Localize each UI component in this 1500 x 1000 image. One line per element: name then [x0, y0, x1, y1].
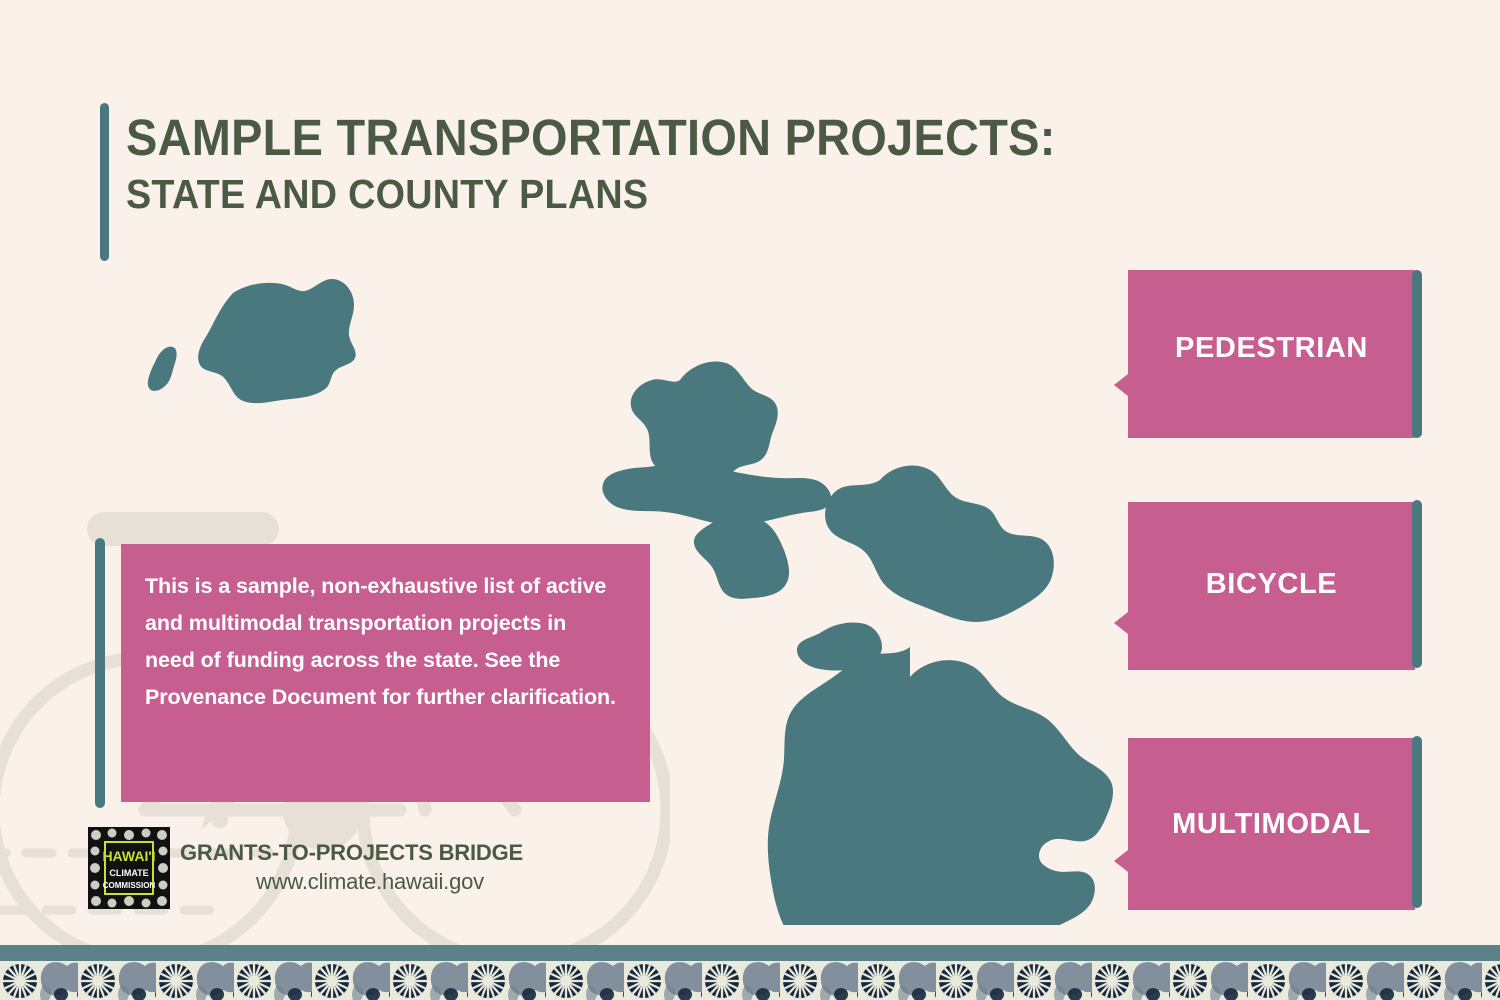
category-accent-bar-pedestrian — [1412, 270, 1422, 438]
category-accent-bar-multimodal — [1412, 736, 1422, 908]
slide-canvas: SAMPLE TRANSPORTATION PROJECTS: STATE AN… — [0, 0, 1500, 1000]
logo-line-1: HAWAI'I — [102, 848, 155, 864]
island-maui — [825, 465, 1054, 622]
quilt-pattern-svg — [0, 961, 1500, 1000]
callout-tail-icon — [1114, 612, 1128, 634]
category-box-pedestrian[interactable]: PEDESTRIAN — [1128, 270, 1415, 438]
category-box-bicycle[interactable]: BICYCLE — [1128, 502, 1415, 670]
page-title-line-1: SAMPLE TRANSPORTATION PROJECTS: — [126, 112, 1156, 164]
island-kahoolawe — [797, 622, 882, 670]
page-title-line-2: STATE AND COUNTY PLANS — [126, 174, 1156, 216]
title-accent-bar — [100, 103, 109, 261]
quilt-pattern-band — [0, 961, 1500, 1000]
category-label-pedestrian: PEDESTRIAN — [1128, 332, 1415, 365]
page-title: SAMPLE TRANSPORTATION PROJECTS: STATE AN… — [126, 112, 1246, 216]
info-box-accent-bar — [95, 538, 105, 808]
footer-url[interactable]: www.climate.hawaii.gov — [180, 869, 560, 895]
island-molokai — [602, 464, 831, 525]
island-lanai — [694, 516, 789, 599]
category-label-multimodal: MULTIMODAL — [1128, 808, 1415, 841]
category-accent-bar-bicycle — [1412, 500, 1422, 668]
logo-line-3: COMMISSION — [103, 881, 156, 890]
island-niihau — [148, 347, 177, 391]
callout-tail-icon — [1114, 374, 1128, 396]
logo-line-2: CLIMATE — [109, 868, 148, 878]
hawaii-climate-commission-logo: HAWAI'I CLIMATE COMMISSION — [88, 827, 170, 909]
island-oahu — [631, 362, 778, 489]
category-box-multimodal[interactable]: MULTIMODAL — [1128, 738, 1415, 910]
island-kauai — [198, 279, 356, 403]
island-hawaii — [768, 647, 1113, 925]
category-label-bicycle: BICYCLE — [1128, 568, 1415, 601]
info-callout-box: This is a sample, non-exhaustive list of… — [121, 544, 650, 802]
band-stripe — [0, 945, 1500, 961]
footer-title: GRANTS-TO-PROJECTS BRIDGE — [180, 840, 560, 866]
footer: GRANTS-TO-PROJECTS BRIDGE www.climate.ha… — [180, 840, 560, 895]
info-callout-text: This is a sample, non-exhaustive list of… — [145, 568, 620, 716]
callout-tail-icon — [1114, 850, 1128, 872]
